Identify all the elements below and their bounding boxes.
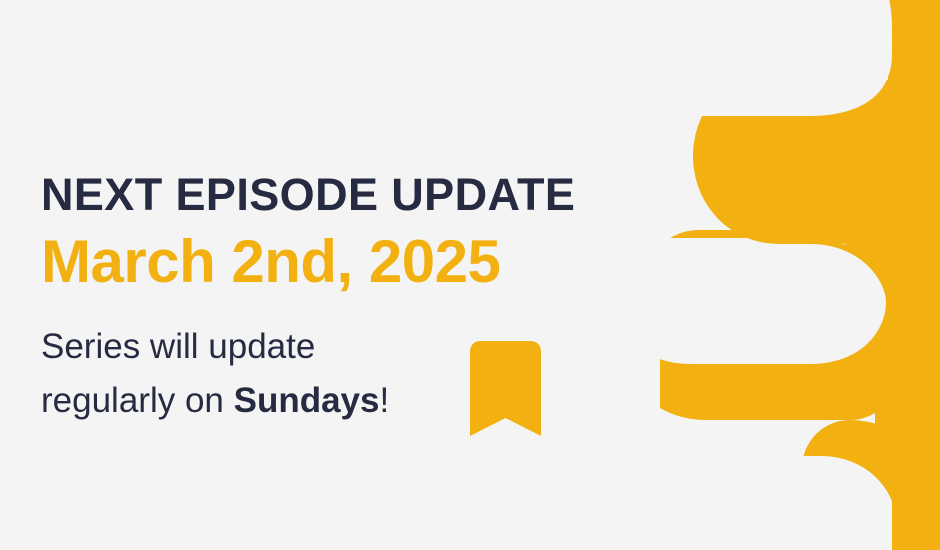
schedule-note-emphasis: Sundays (234, 381, 380, 420)
bookmark-icon (470, 341, 541, 436)
schedule-note-line-1: Series will update (41, 320, 661, 374)
headline: NEXT EPISODE UPDATE (41, 168, 661, 222)
banner-text-content: NEXT EPISODE UPDATE March 2nd, 2025 Seri… (41, 168, 661, 428)
schedule-note-suffix: ! (380, 381, 390, 420)
wavy-stripe-decoration (660, 0, 940, 550)
episode-date: March 2nd, 2025 (41, 228, 661, 296)
schedule-note-line-2: regularly on Sundays! (41, 374, 661, 428)
next-episode-update-banner: NEXT EPISODE UPDATE March 2nd, 2025 Seri… (0, 0, 940, 550)
schedule-note-prefix: regularly on (41, 381, 234, 420)
schedule-note: Series will update regularly on Sundays! (41, 320, 661, 428)
